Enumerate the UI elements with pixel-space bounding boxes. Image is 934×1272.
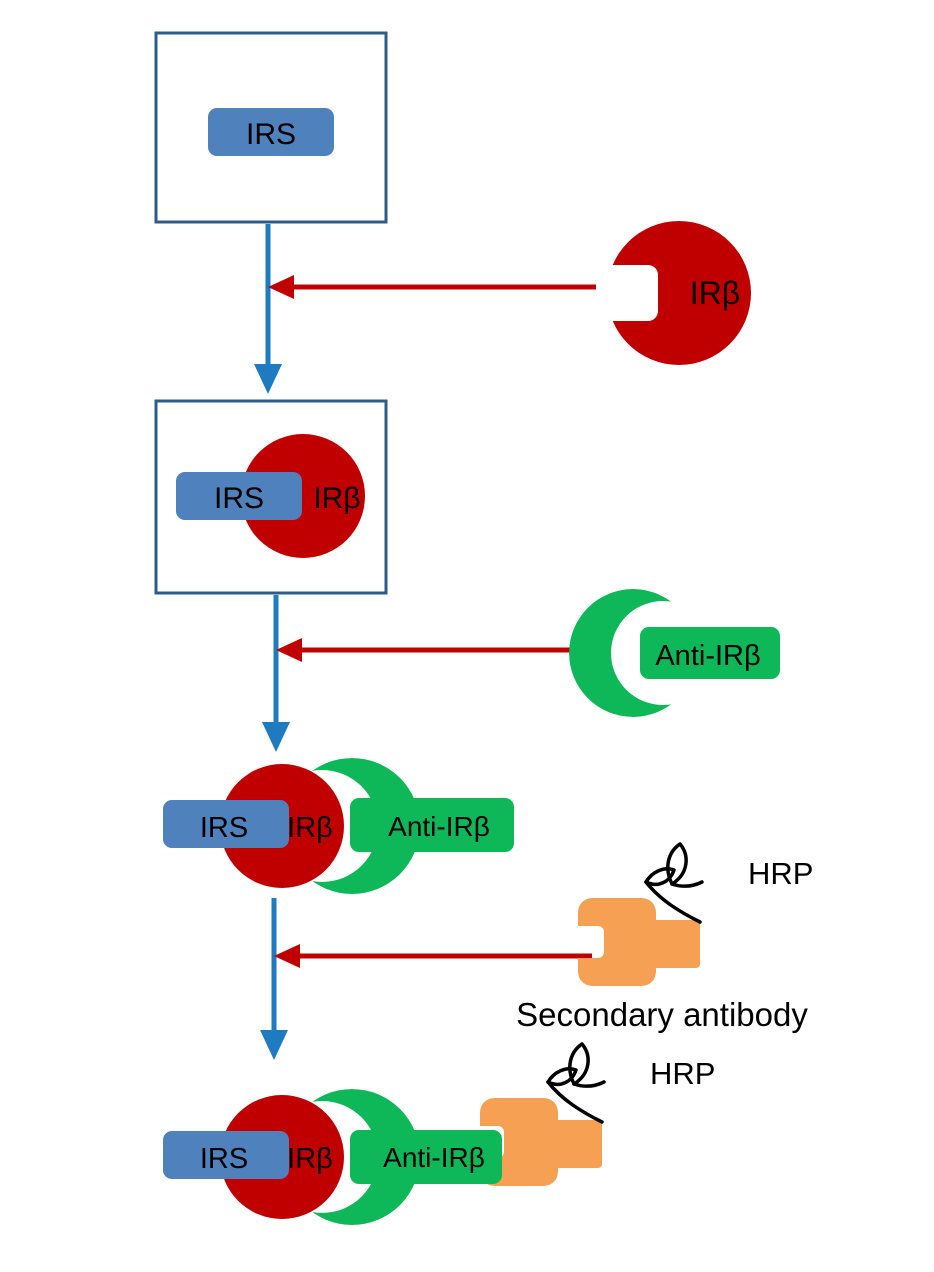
secondary-antibody-body-shape [578,898,656,986]
secondary-antibody-label: Secondary antibody [516,996,808,1033]
flow-arrow-step3-to-step4 [260,898,288,1060]
flow-arrow-1-head [254,364,282,394]
flow-arrow-3-head [260,1030,288,1060]
secondary-antibody-stem-shape-4 [550,1120,602,1168]
secondary-antibody-stem-shape [648,920,700,968]
anti-irbeta-label-3: Anti-IRβ [388,811,490,842]
irs-label-1: IRS [246,118,296,151]
irs-label-4: IRS [200,1143,248,1175]
reagent-arrow-3-head [274,944,300,968]
flow-arrow-step2-to-step3 [262,595,290,752]
flow-arrow-step1-to-step2 [254,224,282,394]
anti-irbeta-label-4: Anti-IRβ [383,1142,485,1173]
diagram-canvas: IRS IRβ IRS IRβ Anti-IRβ [0,0,934,1272]
irbeta-label-4: IRβ [287,1143,333,1175]
irbeta-label-2: IRβ [313,482,360,515]
anti-irbeta-reagent: Anti-IRβ [569,589,780,717]
step-2-well-box: IRS IRβ [156,401,386,593]
irbeta-reagent-label: IRβ [690,275,740,311]
irbeta-label-3: IRβ [287,812,333,844]
flow-arrow-2-head [262,722,290,752]
hrp-label-4: HRP [650,1056,715,1091]
hrp-label: HRP [748,856,813,891]
hrp-leaf-upper-4 [570,1044,588,1084]
reagent-arrow-2-head [276,638,302,662]
step-3-complex: IRS IRβ Anti-IRβ [163,758,514,894]
reagent-arrow-secondary [274,944,592,968]
hrp-leaf-upper [668,844,686,884]
immunoassay-schematic: IRS IRβ IRS IRβ Anti-IRβ [0,0,934,1272]
reagent-arrow-anti-irbeta [276,638,598,662]
irs-label-3: IRS [200,812,248,844]
irbeta-reagent: IRβ [607,221,751,365]
secondary-antibody-reagent: HRP Secondary antibody [516,844,813,1033]
anti-irbeta-reagent-label: Anti-IRβ [655,640,760,672]
reagent-arrow-irbeta [268,275,596,299]
step-4-complex: IRS IRβ Anti-IRβ HRP [163,1044,715,1225]
irs-label-2: IRS [214,482,264,515]
step-1-well-box: IRS [156,33,386,222]
reagent-arrow-1-head [268,275,294,299]
